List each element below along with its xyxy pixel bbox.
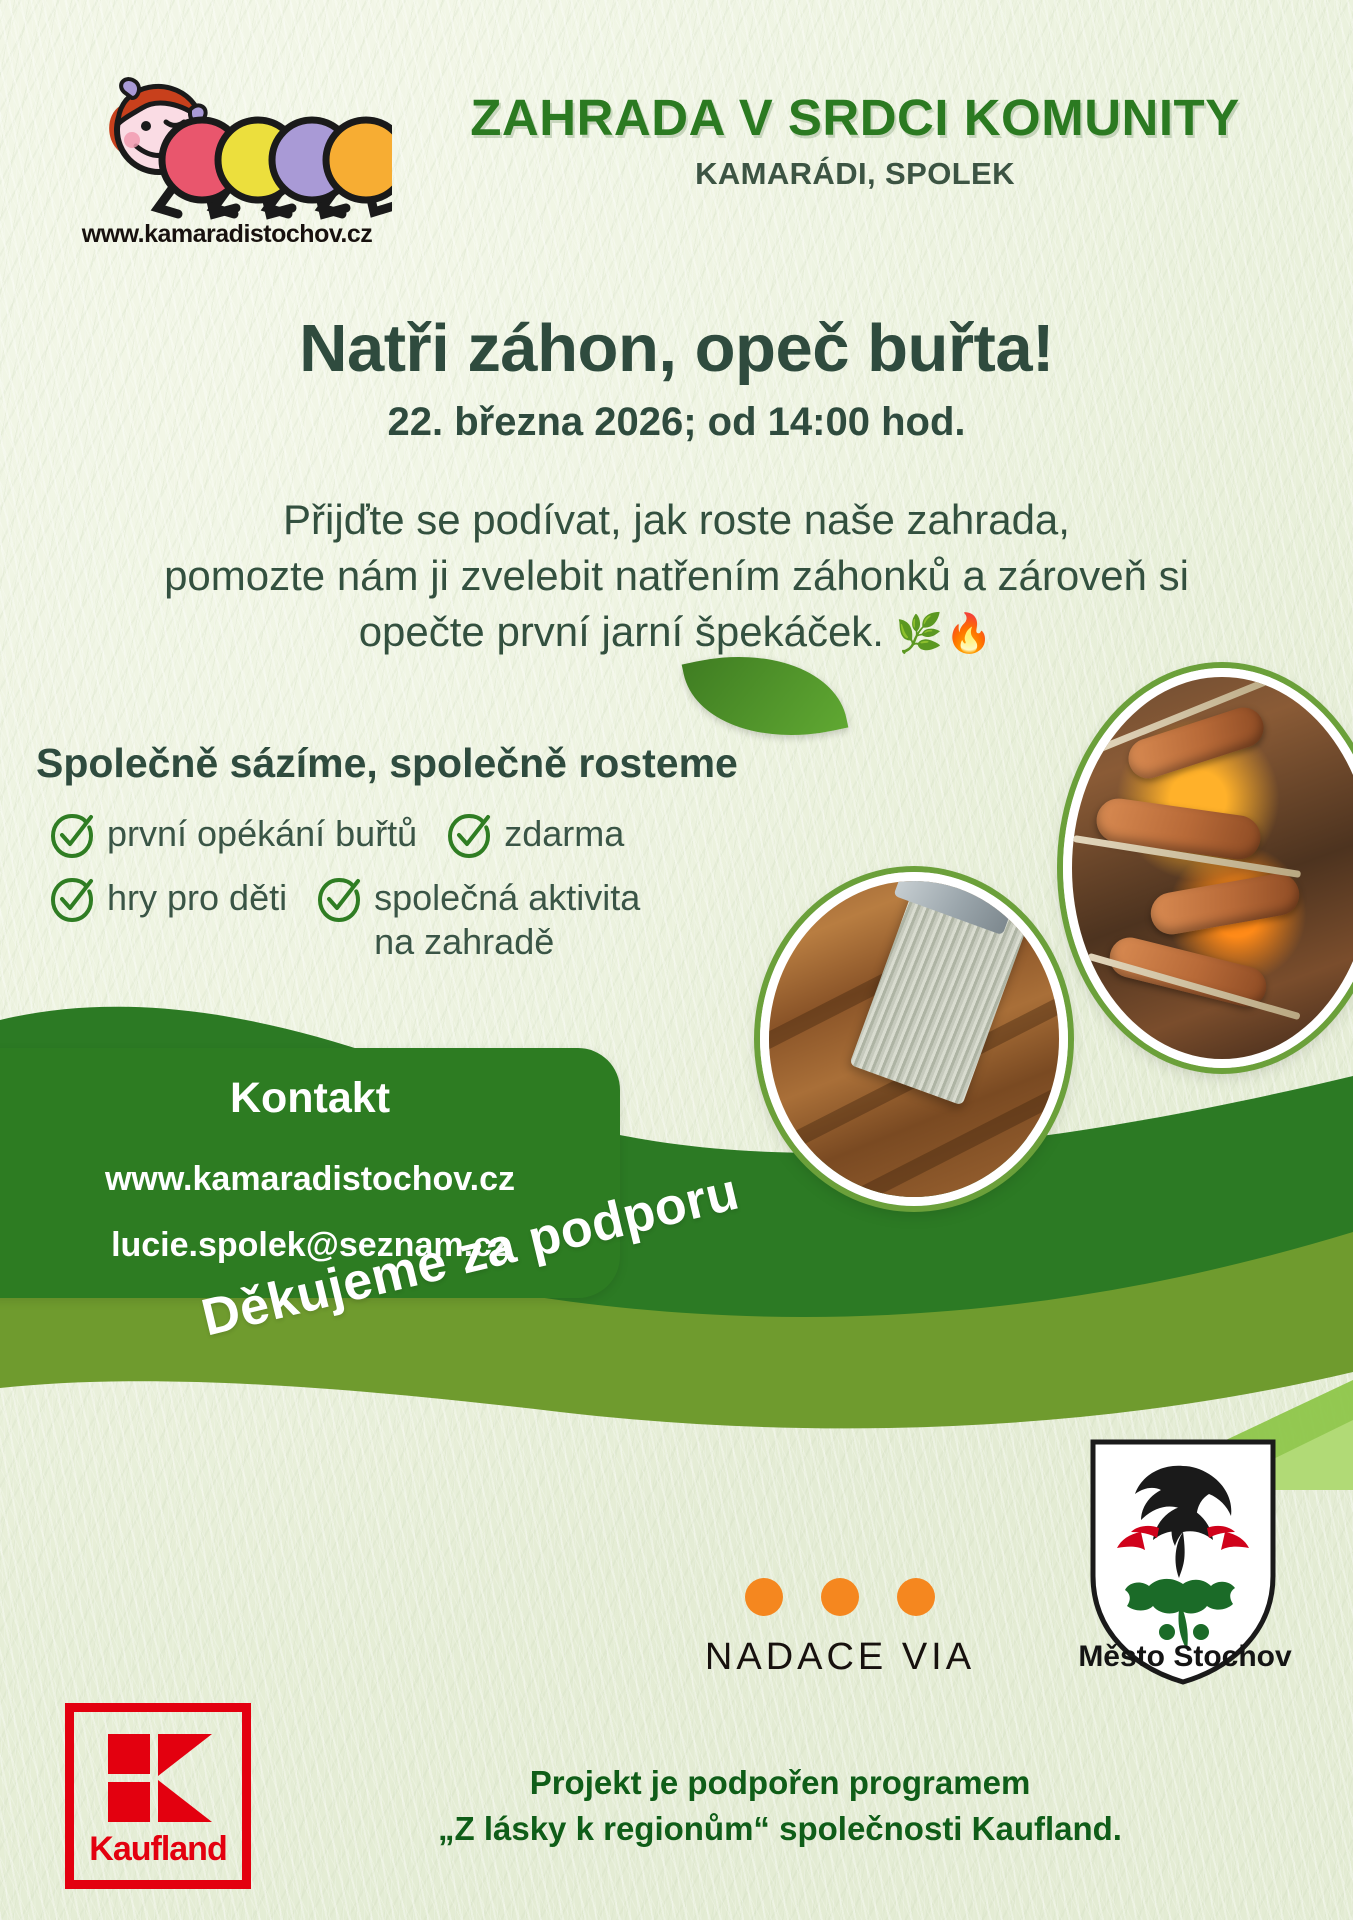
brush-photo-image xyxy=(769,881,1059,1197)
check-circle-icon xyxy=(317,878,361,922)
via-dot-icon xyxy=(745,1578,783,1616)
contact-title: Kontakt xyxy=(0,1074,620,1123)
benefits-checklist: první opékání buřtů zdarma xyxy=(50,812,810,982)
checklist-item-1: první opékání buřtů xyxy=(50,812,417,858)
check-circle-icon xyxy=(50,878,94,922)
paint-brush-photo xyxy=(760,872,1068,1206)
section-subheadline: Společně sázíme, společně rosteme xyxy=(36,740,738,787)
contact-website[interactable]: www.kamaradistochov.cz xyxy=(0,1160,620,1199)
via-dot-icon xyxy=(897,1578,935,1616)
checklist-row: hry pro děti společná aktivita na zahrad… xyxy=(50,876,810,964)
checklist-row: první opékání buřtů zdarma xyxy=(50,812,810,858)
support-note: Projekt je podpořen programem „Z lásky k… xyxy=(330,1760,1230,1852)
checklist-item-label: zdarma xyxy=(504,812,624,856)
checklist-item-3: hry pro děti xyxy=(50,876,287,922)
event-description: Přijďte se podívat, jak roste naše zahra… xyxy=(28,492,1325,660)
event-description-text: Přijďte se podívat, jak roste naše zahra… xyxy=(164,496,1189,655)
support-note-line2: „Z lásky k regionům“ společnosti Kauflan… xyxy=(438,1810,1122,1847)
nadace-via-logo: NADACE VIA xyxy=(700,1578,980,1679)
herb-fire-emoji: 🌿🔥 xyxy=(896,613,995,655)
kaufland-wordmark: Kaufland xyxy=(74,1830,242,1869)
checklist-item-2: zdarma xyxy=(447,812,624,858)
poster-header: www.kamaradistochov.cz ZAHRADA V SRDCI K… xyxy=(0,58,1353,268)
sausage-grill-photo xyxy=(1063,668,1353,1068)
check-circle-icon xyxy=(50,814,94,858)
kaufland-k-mark-icon xyxy=(108,1734,214,1822)
checklist-item-label: hry pro děti xyxy=(107,876,287,920)
checklist-item-label: první opékání buřtů xyxy=(107,812,417,856)
checklist-item-label: společná aktivita na zahradě xyxy=(374,876,640,964)
caterpillar-logo: www.kamaradistochov.cz xyxy=(62,68,392,263)
sausage-photo-image xyxy=(1072,677,1353,1059)
support-note-line1: Projekt je podpořen programem xyxy=(530,1764,1031,1801)
city-name-label: Město Stochov xyxy=(1040,1640,1330,1674)
organization-subtitle: KAMARÁDI, SPOLEK xyxy=(420,156,1290,192)
event-headline: Natři záhon, opeč buřta! xyxy=(0,310,1353,387)
via-logo-text: NADACE VIA xyxy=(700,1636,980,1679)
organization-title: ZAHRADA V SRDCI KOMUNITY xyxy=(420,88,1290,147)
kaufland-logo: Kaufland xyxy=(65,1703,251,1889)
via-dot-icon xyxy=(821,1578,859,1616)
checklist-item-4: společná aktivita na zahradě xyxy=(317,876,640,964)
via-dots xyxy=(700,1578,980,1616)
event-dateline: 22. března 2026; od 14:00 hod. xyxy=(0,400,1353,445)
logo-website-url: www.kamaradistochov.cz xyxy=(62,220,392,249)
poster-canvas: www.kamaradistochov.cz ZAHRADA V SRDCI K… xyxy=(0,0,1353,1920)
check-circle-icon xyxy=(447,814,491,858)
